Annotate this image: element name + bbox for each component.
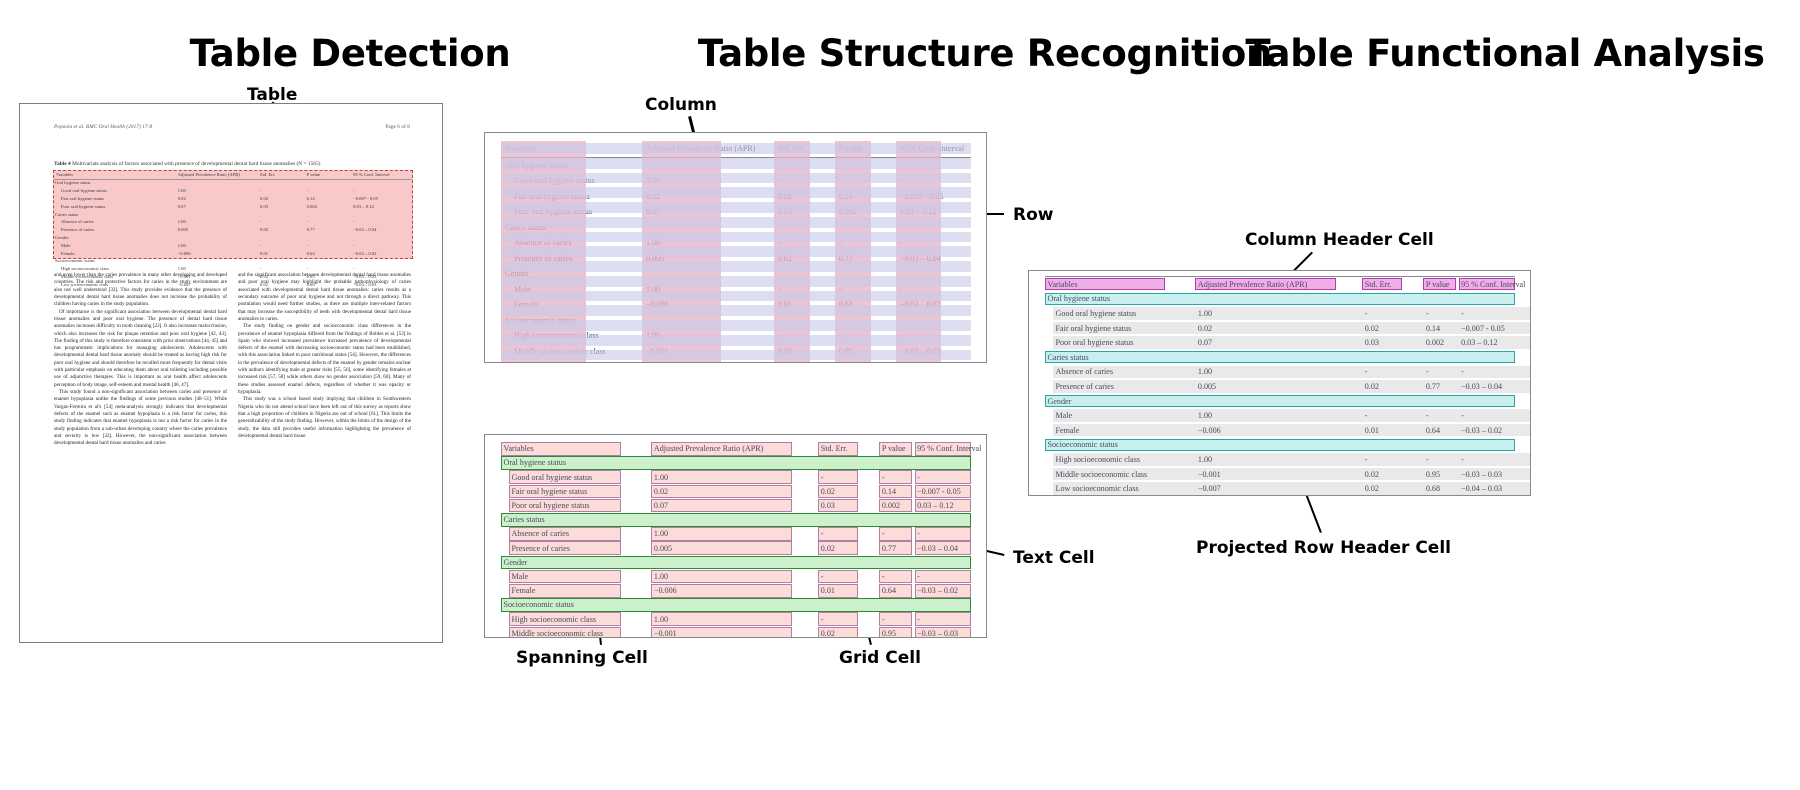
table-header-row: VariablesAdjusted Prevalence Ratio (APR)… — [54, 171, 412, 179]
data-cell-value: 0.02 — [1365, 471, 1379, 479]
data-cell-value: −0.006 — [1198, 427, 1221, 435]
table-cell — [351, 258, 412, 266]
text-cell-label: - — [821, 616, 824, 624]
spanning-cell-box — [501, 556, 971, 570]
table-cell: Fair oral hygiene status — [54, 195, 176, 203]
data-cell-box — [1195, 307, 1374, 319]
document-paragraph: The study finding on gender and socioeco… — [238, 323, 411, 396]
data-cell-value: High socioeconomic class — [1056, 456, 1141, 464]
data-cell-box — [1459, 453, 1531, 465]
table-cell: - — [351, 242, 412, 250]
text-cell-label: - — [917, 474, 920, 482]
data-cell-box — [1362, 453, 1430, 465]
data-cell-value: 0.68 — [1426, 485, 1440, 493]
data-cell-box — [1195, 366, 1374, 378]
table-cell — [305, 234, 352, 242]
table-caption-label: Table 4 — [54, 161, 71, 167]
data-cell-box — [1362, 307, 1430, 319]
table-cell: Caries status — [54, 211, 176, 219]
document-page-preview: Popoola et al. BMC Oral Health (2017) 17… — [19, 103, 443, 643]
column-header-cell: P value — [305, 171, 352, 179]
text-cell-label: 0.01 — [821, 587, 835, 595]
data-cell-box — [1362, 409, 1430, 421]
table-cell: - — [351, 188, 412, 196]
text-cell-box — [818, 470, 858, 484]
data-cell-box — [1195, 468, 1374, 480]
data-cell-value: - — [1461, 456, 1464, 464]
column-header-cell: Variables — [54, 171, 176, 179]
row-highlight-band — [501, 350, 971, 361]
text-cell-label: - — [882, 474, 885, 482]
text-cell-label: 1.00 — [654, 616, 668, 624]
text-cell-label: 0.02 — [654, 488, 668, 496]
text-cell-label: 0.02 — [821, 488, 835, 496]
text-cell-label: Adjusted Prevalence Ratio (APR) — [654, 445, 763, 453]
table-data-row: Fair oral hygiene status0.020.020.14−0.0… — [54, 195, 412, 203]
table-cell — [351, 179, 412, 187]
text-cell-label: 0.03 – 0.12 — [917, 502, 953, 510]
data-cell-value: 1.00 — [1198, 368, 1212, 376]
data-cell-value: - — [1461, 310, 1464, 318]
table-cell: 0.14 — [305, 195, 352, 203]
data-cell-box — [1195, 424, 1374, 436]
data-cell-box — [1195, 336, 1374, 348]
data-cell-value: Male — [1056, 412, 1073, 420]
table-cell: 0.02 — [258, 227, 305, 235]
table-cell: −0.007 - 0.05 — [351, 195, 412, 203]
data-cell-value: 0.07 — [1198, 339, 1212, 347]
table-structure-cells-view: VariablesAdjusted Prevalence Ratio (APR)… — [484, 434, 987, 638]
data-cell-value: −0.007 - 0.05 — [1461, 325, 1505, 333]
data-cell-value: 0.01 — [1365, 427, 1379, 435]
text-cell-label: −0.006 — [654, 587, 677, 595]
data-cell-value: Presence of caries — [1056, 383, 1114, 391]
table-group-row: Socioeconomic status — [54, 258, 412, 266]
table-caption-text: Multivariate analysis of factors associa… — [71, 161, 321, 167]
table-cell — [305, 211, 352, 219]
data-cell-value: −0.007 — [1198, 485, 1221, 493]
table-cell: 0.64 — [305, 250, 352, 258]
text-cell-label: Std. Err. — [821, 445, 848, 453]
column-header-cell: 95 % Conf. Interval — [351, 171, 412, 179]
table-cell: 0.77 — [305, 227, 352, 235]
text-cell-label: - — [821, 573, 824, 581]
table-cell: - — [305, 219, 352, 227]
callout-label-column: Column — [645, 95, 717, 115]
text-cell-label: - — [882, 530, 885, 538]
projected-row-header-cell-label: Caries status — [1048, 354, 1089, 362]
row-highlight-band — [501, 232, 971, 243]
table-cell: - — [258, 219, 305, 227]
data-cell-value: 1.00 — [1198, 456, 1212, 464]
data-cell-value: −0.04 – 0.03 — [1461, 485, 1502, 493]
data-cell-value: Female — [1056, 427, 1080, 435]
column-header-cell-label: Variables — [1048, 281, 1078, 289]
text-cell-label: 1.00 — [654, 474, 668, 482]
data-cell-value: −0.001 — [1198, 471, 1221, 479]
row-highlight-band — [501, 276, 971, 287]
column-header-cell: Std. Err. — [258, 171, 305, 179]
text-cell-label: P value — [882, 445, 906, 453]
data-cell-value: 0.02 — [1365, 325, 1379, 333]
text-cell-label: Absence of caries — [512, 530, 570, 538]
data-cell-value: 0.14 — [1426, 325, 1440, 333]
table-cell — [258, 234, 305, 242]
callout-label-row: Row — [1013, 205, 1053, 225]
data-cell-value: - — [1365, 412, 1368, 420]
text-cell-label: 0.02 — [821, 545, 835, 553]
column-header-cell: Adjusted Prevalence Ratio (APR) — [176, 171, 258, 179]
spanning-cell-label: Gender — [504, 559, 528, 567]
data-cell-value: −0.03 – 0.04 — [1461, 383, 1502, 391]
table-cell: −0.03 – 0.04 — [351, 227, 412, 235]
callout-label-text-cell: Text Cell — [1013, 548, 1095, 568]
text-cell-label: - — [917, 530, 920, 538]
data-cell-value: 0.02 — [1198, 325, 1212, 333]
table-cell: 0.01 — [258, 250, 305, 258]
text-cell-box — [818, 570, 858, 584]
text-cell-label: 0.14 — [882, 488, 896, 496]
table-cell: Male — [54, 242, 176, 250]
text-cell-label: 0.07 — [654, 502, 668, 510]
table-cell: Oral hygiene status — [54, 179, 176, 187]
table-structure-rows-columns-view: VariablesAdjusted Prevalence Ratio (APR)… — [484, 132, 987, 363]
table-cell: 1.00 — [176, 219, 258, 227]
callout-label-projected-row-header-cell: Projected Row Header Cell — [1196, 538, 1451, 558]
data-cell-value: Fair oral hygiene status — [1056, 325, 1132, 333]
row-highlight-band — [501, 246, 971, 257]
row-highlight-band — [501, 202, 971, 213]
text-cell-label: −0.007 - 0.05 — [917, 488, 961, 496]
data-cell-value: - — [1365, 456, 1368, 464]
text-cell-label: 0.005 — [654, 545, 672, 553]
table-cell: Gender — [54, 234, 176, 242]
text-cell-label: 0.95 — [882, 630, 896, 638]
text-cell-label: 0.02 — [821, 630, 835, 638]
text-cell-box — [915, 570, 971, 584]
text-cell-label: - — [882, 573, 885, 581]
column-header-cell-label: Adjusted Prevalence Ratio (APR) — [1198, 281, 1307, 289]
table-cell: - — [258, 188, 305, 196]
text-cell-box — [651, 612, 792, 626]
text-cell-label: Variables — [504, 445, 534, 453]
data-cell-box — [1195, 409, 1374, 421]
document-running-head: Popoola et al. BMC Oral Health (2017) 17… — [54, 124, 410, 130]
text-cell-box — [651, 499, 792, 513]
data-cell-value: 0.03 — [1365, 339, 1379, 347]
table-cell: 0.03 — [258, 203, 305, 211]
table-cell: 0.03 – 0.12 — [351, 203, 412, 211]
table-cell — [176, 258, 258, 266]
table-cell: −0.006 — [176, 250, 258, 258]
data-cell-value: - — [1426, 412, 1429, 420]
table-group-row: Gender — [54, 234, 412, 242]
data-cell-value: 0.005 — [1198, 383, 1216, 391]
data-cell-value: 0.95 — [1426, 471, 1440, 479]
table-cell: Female — [54, 250, 176, 258]
text-cell-label: High socioeconomic class — [512, 616, 597, 624]
table-cell: Socioeconomic status — [54, 258, 176, 266]
data-cell-value: −0.03 – 0.02 — [1461, 427, 1502, 435]
table-cell: - — [351, 219, 412, 227]
data-cell-value: 0.77 — [1426, 383, 1440, 391]
text-cell-label: 1.00 — [654, 573, 668, 581]
data-cell-value: - — [1461, 412, 1464, 420]
data-cell-value: 0.02 — [1365, 485, 1379, 493]
text-cell-label: Male — [512, 573, 529, 581]
row-highlight-band — [501, 305, 971, 316]
header-separator-line — [1045, 276, 1515, 277]
spanning-cell-label: Socioeconomic status — [504, 601, 574, 609]
text-cell-label: Fair oral hygiene status — [512, 488, 588, 496]
text-cell-label: −0.001 — [654, 630, 677, 638]
data-cell-value: Low socioeconomic class — [1056, 485, 1139, 493]
table-cell — [258, 211, 305, 219]
text-cell-label: −0.03 – 0.03 — [917, 630, 958, 638]
callout-label-column-header-cell: Column Header Cell — [1245, 230, 1434, 250]
column-header-cell-label: Std. Err. — [1365, 281, 1392, 289]
table-data-row: Poor oral hygiene status0.070.030.0020.0… — [54, 203, 412, 211]
text-cell-label: 0.77 — [882, 545, 896, 553]
data-cell-value: Good oral hygiene status — [1056, 310, 1137, 318]
table-data-row: Good oral hygiene status1.00--- — [54, 188, 412, 196]
table-cell: Good oral hygiene status — [54, 188, 176, 196]
table-cell: 0.02 — [176, 195, 258, 203]
text-cell-box — [818, 527, 858, 541]
data-cell-value: - — [1365, 368, 1368, 376]
row-highlight-band — [501, 320, 971, 331]
table-cell: 0.02 — [258, 195, 305, 203]
text-cell-box — [915, 612, 971, 626]
table-cell: −0.03 – 0.02 — [351, 250, 412, 258]
projected-row-header-cell-box — [1045, 293, 1515, 305]
row-highlight-band — [501, 217, 971, 228]
text-cell-label: −0.03 – 0.02 — [917, 587, 958, 595]
data-cell-value: 1.00 — [1198, 412, 1212, 420]
table-cell: - — [305, 188, 352, 196]
data-cell-box — [1195, 322, 1374, 334]
document-paragraph: and even lower than the caries prevalenc… — [54, 272, 227, 309]
spanning-cell-label: Caries status — [504, 516, 545, 524]
data-cell-value: - — [1426, 310, 1429, 318]
text-cell-label: - — [821, 474, 824, 482]
table-data-row: Presence of caries0.0050.020.77−0.03 – 0… — [54, 227, 412, 235]
text-cell-label: Presence of caries — [512, 545, 570, 553]
data-cell-value: Absence of caries — [1056, 368, 1114, 376]
data-cell-value: 0.64 — [1426, 427, 1440, 435]
data-cell-box — [1195, 482, 1374, 494]
table-cell: 0.002 — [305, 203, 352, 211]
text-cell-box — [651, 541, 792, 555]
text-cell-label: 95 % Conf. Interval — [917, 445, 981, 453]
running-head-right: Page 6 of 8 — [385, 124, 410, 130]
text-cell-label: Middle socioeconomic class — [512, 630, 604, 638]
document-text-column-left: and even lower than the caries prevalenc… — [54, 272, 227, 632]
spanning-cell-box — [501, 513, 971, 527]
callout-label-grid-cell: Grid Cell — [839, 648, 921, 668]
document-table-caption: Table 4 Multivariate analysis of factors… — [54, 161, 412, 168]
text-cell-label: 0.64 — [882, 587, 896, 595]
text-cell-box — [915, 470, 971, 484]
table-data-row: Female−0.0060.010.64−0.03 – 0.02 — [54, 250, 412, 258]
table-cell: 1.00 — [176, 188, 258, 196]
table-cell — [305, 258, 352, 266]
data-cell-value: 1.00 — [1198, 310, 1212, 318]
text-cell-label: - — [917, 616, 920, 624]
text-cell-label: Female — [512, 587, 536, 595]
text-cell-box — [915, 527, 971, 541]
projected-row-header-cell-box — [1045, 351, 1515, 363]
row-highlight-band — [501, 261, 971, 272]
text-cell-label: −0.03 – 0.04 — [917, 545, 958, 553]
projected-row-header-cell-box — [1045, 395, 1515, 407]
spanning-cell-box — [501, 456, 971, 470]
projected-row-header-cell-label: Gender — [1048, 398, 1072, 406]
table-cell — [351, 211, 412, 219]
text-cell-box — [651, 527, 792, 541]
spanning-cell-label: Oral hygiene status — [504, 459, 567, 467]
document-paragraph: This study was a school based study impl… — [238, 396, 411, 440]
table-cell — [258, 258, 305, 266]
row-highlight-band — [501, 143, 971, 154]
data-cell-value: Poor oral hygiene status — [1056, 339, 1134, 347]
data-cell-box — [1195, 380, 1374, 392]
table-cell — [176, 211, 258, 219]
text-cell-label: - — [821, 530, 824, 538]
table-cell: 0.005 — [176, 227, 258, 235]
document-paragraph: Of importance is the significant associa… — [54, 309, 227, 389]
data-cell-box — [1459, 307, 1531, 319]
data-cell-value: - — [1461, 368, 1464, 376]
table-cell: Absence of caries — [54, 219, 176, 227]
table-cell — [258, 179, 305, 187]
table-data-row: Absence of caries1.00--- — [54, 219, 412, 227]
text-cell-label: - — [917, 573, 920, 581]
document-text-column-right: and the significant association between … — [238, 272, 411, 632]
row-highlight-band — [501, 173, 971, 184]
panel-title-table-functional-analysis: Table Functional Analysis — [1070, 32, 1800, 75]
projected-row-header-cell-label: Oral hygiene status — [1048, 295, 1111, 303]
column-header-cell-label: 95 % Conf. Interval — [1461, 281, 1525, 289]
table-group-row: Caries status — [54, 211, 412, 219]
row-highlight-band — [501, 158, 971, 169]
data-cell-value: Middle socioeconomic class — [1056, 471, 1148, 479]
text-cell-label: 0.002 — [882, 502, 900, 510]
text-cell-label: - — [882, 616, 885, 624]
text-cell-label: Good oral hygiene status — [512, 474, 593, 482]
document-paragraph: This study found a non-significant assoc… — [54, 389, 227, 448]
table-cell: 1.00 — [176, 242, 258, 250]
data-cell-box — [1459, 366, 1531, 378]
table-cell — [351, 234, 412, 242]
document-body-text: and even lower than the caries prevalenc… — [54, 272, 412, 632]
table-group-row: Oral hygiene status — [54, 179, 412, 187]
text-cell-box — [651, 470, 792, 484]
text-cell-label: Poor oral hygiene status — [512, 502, 590, 510]
table-cell: Poor oral hygiene status — [54, 203, 176, 211]
data-cell-value: - — [1426, 456, 1429, 464]
table-functional-analysis-view: VariablesAdjusted Prevalence Ratio (APR)… — [1028, 270, 1531, 496]
data-cell-value: 0.002 — [1426, 339, 1444, 347]
text-cell-box — [818, 612, 858, 626]
document-paragraph: and the significant association between … — [238, 272, 411, 323]
table-data-row: Male1.00--- — [54, 242, 412, 250]
callout-label-spanning-cell: Spanning Cell — [516, 648, 648, 668]
table-cell: - — [305, 242, 352, 250]
projected-row-header-cell-label: Socioeconomic status — [1048, 441, 1118, 449]
row-highlight-band — [501, 291, 971, 302]
table-cell: - — [258, 242, 305, 250]
data-cell-value: 0.03 – 0.12 — [1461, 339, 1497, 347]
data-cell-value: 0.02 — [1365, 383, 1379, 391]
table-cell — [176, 234, 258, 242]
table-cell: Presence of caries — [54, 227, 176, 235]
data-cell-box — [1053, 409, 1207, 421]
table-cell — [305, 179, 352, 187]
text-cell-label: 1.00 — [654, 530, 668, 538]
data-cell-box — [1459, 409, 1531, 421]
data-cell-value: - — [1365, 310, 1368, 318]
running-head-left: Popoola et al. BMC Oral Health (2017) 17… — [54, 124, 152, 130]
text-cell-box — [651, 485, 792, 499]
data-cell-value: −0.03 – 0.03 — [1461, 471, 1502, 479]
column-header-cell-label: P value — [1426, 281, 1450, 289]
text-cell-box — [651, 570, 792, 584]
data-cell-value: - — [1426, 368, 1429, 376]
table-cell: 0.07 — [176, 203, 258, 211]
table-cell — [176, 179, 258, 187]
row-highlight-band — [501, 187, 971, 198]
detected-table-region: VariablesAdjusted Prevalence Ratio (APR)… — [53, 170, 413, 259]
data-cell-box — [1195, 453, 1374, 465]
data-cell-box — [1362, 366, 1430, 378]
row-highlight-band — [501, 335, 971, 346]
text-cell-label: 0.03 — [821, 502, 835, 510]
